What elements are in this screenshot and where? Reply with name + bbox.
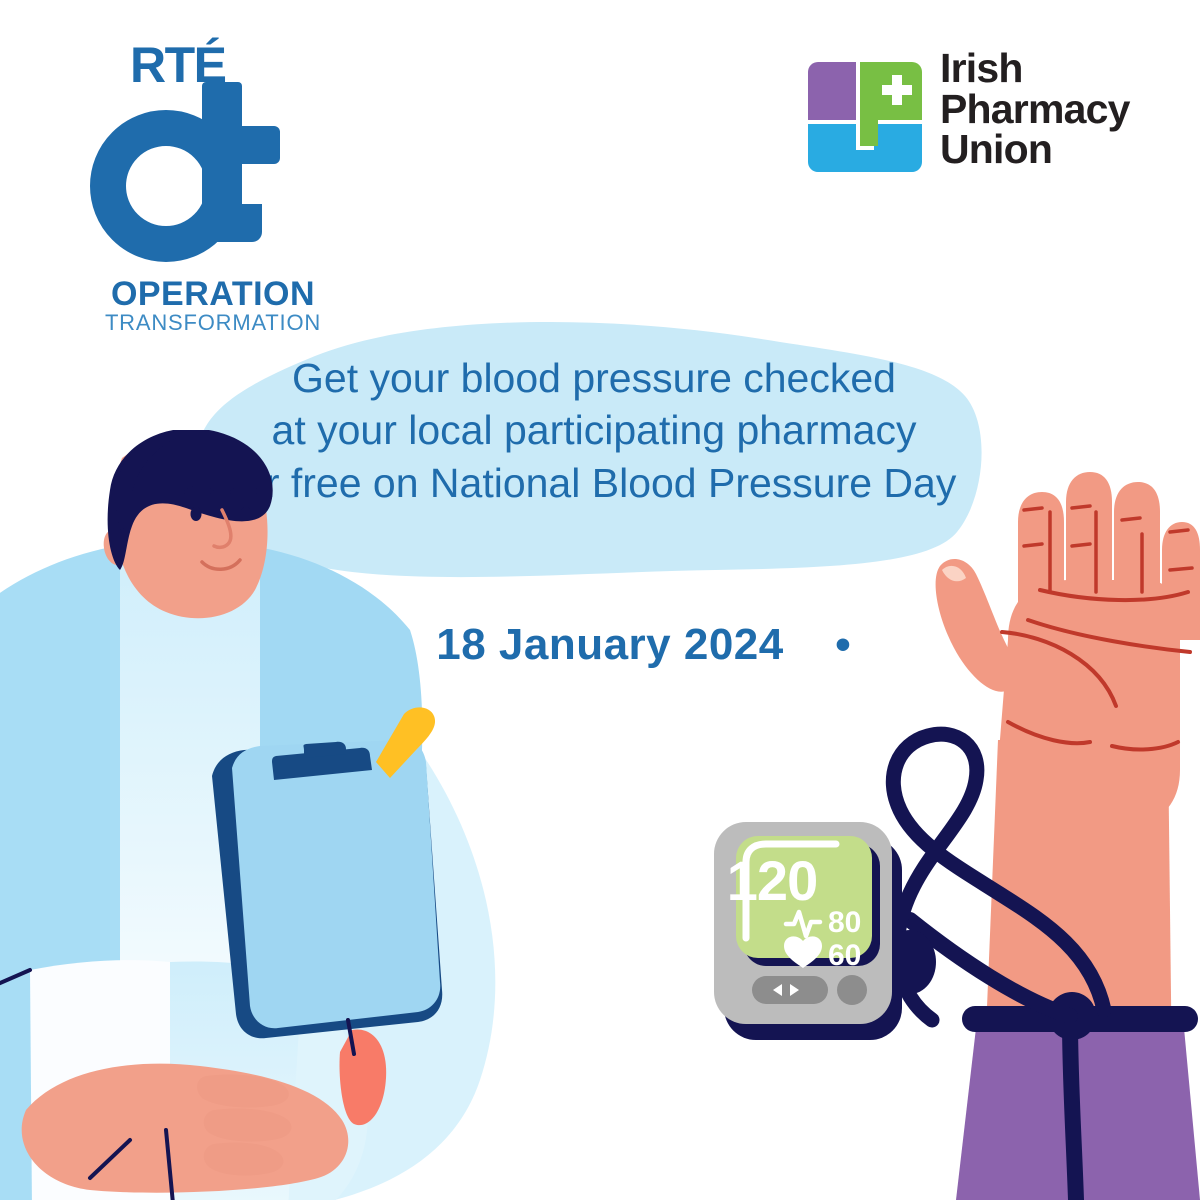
pulse-value: 60 [828, 939, 861, 972]
ot-letter-t-crossbar [202, 126, 280, 164]
poster-canvas: RTÉ OPERATION TRANSFORMATION Irish Pharm… [0, 0, 1200, 1200]
blood-pressure-monitor: 120 80 60 [700, 800, 920, 1050]
bullet-right-icon: • [835, 620, 851, 669]
ipu-line-pharmacy: Pharmacy [940, 89, 1130, 130]
ipu-tile-mark-icon [806, 58, 924, 176]
clipboard [180, 700, 480, 1060]
ipu-line-union: Union [940, 129, 1130, 170]
irish-pharmacy-union-logo: Irish Pharmacy Union [806, 52, 1146, 182]
diastolic-value: 80 [828, 906, 861, 939]
ipu-wordmark: Irish Pharmacy Union [940, 48, 1130, 170]
ot-monogram-icon [90, 82, 290, 262]
ipu-line-irish: Irish [940, 48, 1130, 89]
round-button [837, 975, 867, 1005]
logo-word-operation: OPERATION [78, 275, 348, 314]
message-line-1: Get your blood pressure checked [214, 352, 974, 404]
ot-letter-t-foot [202, 204, 262, 242]
rte-operation-transformation-logo: RTÉ OPERATION TRANSFORMATION [78, 30, 378, 320]
systolic-value: 120 [727, 849, 817, 912]
